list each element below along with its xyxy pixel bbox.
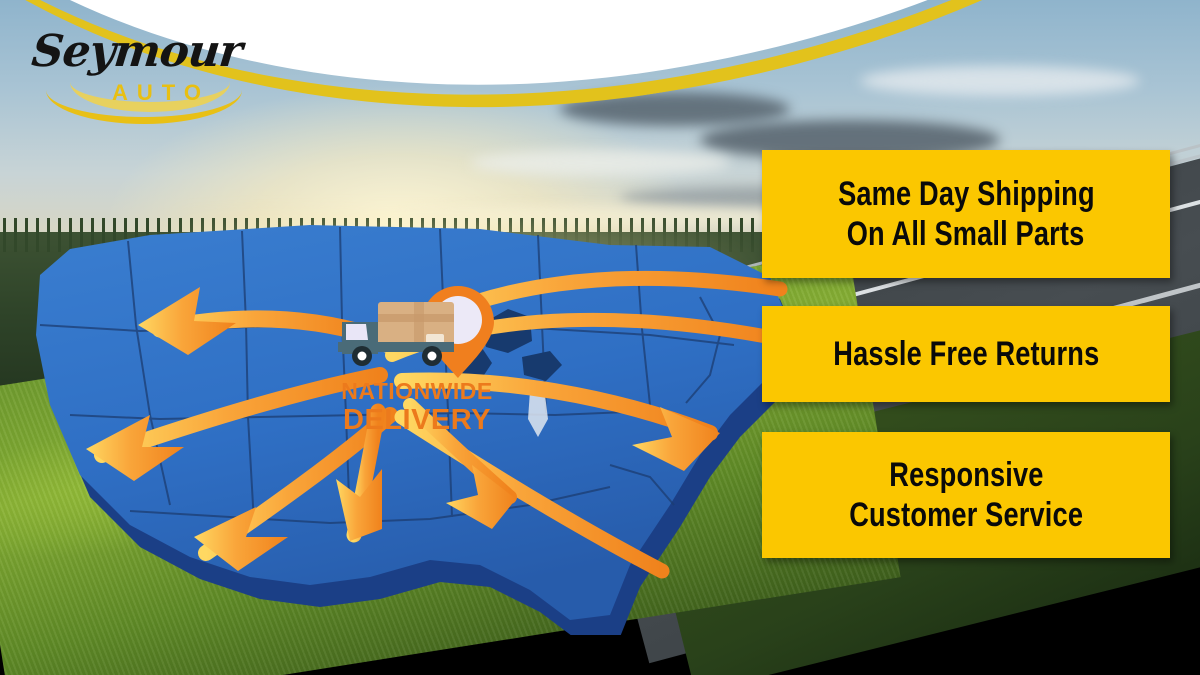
- feature-line-1: Same Day Shipping: [838, 174, 1095, 214]
- feature-line-2: Customer Service: [849, 495, 1083, 535]
- feature-line-1: Hassle Free Returns: [833, 334, 1099, 374]
- delivery-truck-icon: [338, 302, 454, 366]
- feature-line-1: Responsive: [889, 455, 1043, 495]
- nationwide-delivery-text: NATIONWIDE DELIVERY: [322, 380, 512, 435]
- delivery-label: DELIVERY: [322, 406, 512, 435]
- truck-and-pin-icon: [322, 282, 512, 382]
- feature-banner-hassle-free-returns[interactable]: Hassle Free Returns: [762, 306, 1170, 402]
- feature-banner-responsive-customer-service[interactable]: Responsive Customer Service: [762, 432, 1170, 558]
- nationwide-delivery-badge: NATIONWIDE DELIVERY: [322, 282, 512, 452]
- cloud: [860, 66, 1140, 96]
- logo-wordmark: Seymour: [29, 26, 244, 77]
- feature-banner-same-day-shipping[interactable]: Same Day Shipping On All Small Parts: [762, 150, 1170, 278]
- cloud: [470, 150, 730, 176]
- logo-subtext: AUTO: [112, 80, 210, 106]
- nationwide-label: NATIONWIDE: [322, 380, 512, 403]
- feature-line-2: On All Small Parts: [847, 214, 1085, 254]
- brand-logo[interactable]: Seymour AUTO: [26, 18, 246, 118]
- promo-banner: Seymour AUTO: [0, 0, 1200, 675]
